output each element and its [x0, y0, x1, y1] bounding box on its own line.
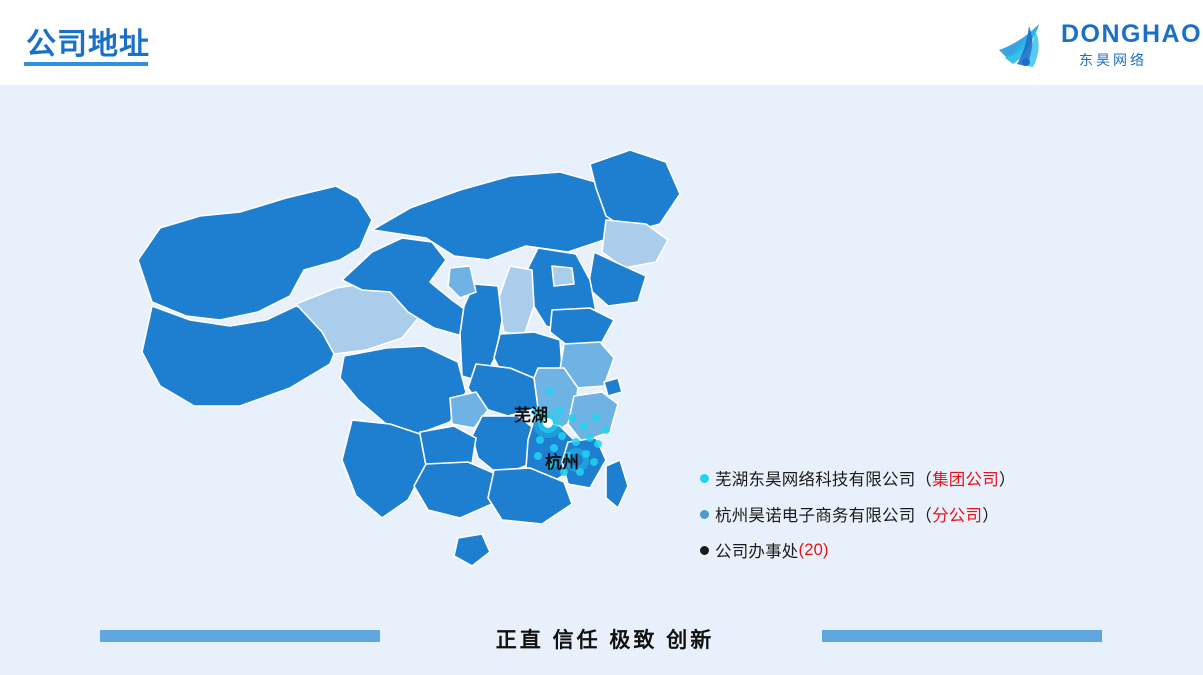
legend-dot-icon	[700, 510, 709, 519]
legend-item-label: 芜湖东昊网络科技有限公司（	[715, 466, 932, 490]
list-item: 杭州昊诺电子商务有限公司（ 分公司 ）	[700, 496, 1120, 532]
legend-dot-icon	[700, 546, 709, 555]
fan-burst-logo-icon	[995, 16, 1057, 68]
page-title: 公司地址	[26, 19, 150, 63]
footer-bar-left	[100, 630, 380, 642]
legend: 芜湖东昊网络科技有限公司（ 集团公司 ） 杭州昊诺电子商务有限公司（ 分公司 ）…	[700, 460, 1120, 568]
province-ningxia	[448, 266, 476, 298]
legend-item-tag: 集团公司	[932, 466, 999, 490]
china-map-svg	[90, 120, 710, 600]
province-beijing	[552, 266, 574, 286]
footer-slogan: 正直 信任 极致 创新	[450, 624, 760, 654]
legend-item-tail: ）	[999, 466, 1016, 490]
list-item: 公司办事处 (20)	[700, 532, 1120, 568]
list-item: 芜湖东昊网络科技有限公司（ 集团公司 ）	[700, 460, 1120, 496]
company-logo: DONGHAO 东昊网络	[995, 12, 1185, 74]
province-yunnan	[342, 420, 426, 518]
china-map: 芜湖 杭州	[90, 120, 710, 600]
legend-item-label: 杭州昊诺电子商务有限公司（	[715, 502, 932, 526]
province-shanghai	[604, 378, 622, 396]
title-underline	[24, 62, 148, 66]
province-taiwan	[606, 460, 628, 508]
map-label-wuhu: 芜湖	[514, 401, 548, 426]
legend-item-tail: ）	[982, 502, 999, 526]
slide-root: 公司地址	[0, 0, 1203, 675]
province-guangxi	[414, 462, 496, 518]
logo-text-sub: 东昊网络	[1079, 50, 1147, 70]
legend-item-label: 公司办事处	[715, 538, 799, 562]
footer-bar-right	[822, 630, 1102, 642]
map-label-hangzhou: 杭州	[545, 448, 579, 473]
province-hainan	[454, 534, 490, 566]
province-shandong	[550, 308, 614, 346]
legend-dot-icon	[700, 474, 709, 483]
slide-header: 公司地址	[0, 0, 1203, 85]
logo-text-main: DONGHAO	[1061, 20, 1202, 49]
province-shanxi	[498, 266, 534, 336]
legend-item-tag: 分公司	[932, 502, 982, 526]
legend-item-tag: (20)	[799, 541, 829, 560]
